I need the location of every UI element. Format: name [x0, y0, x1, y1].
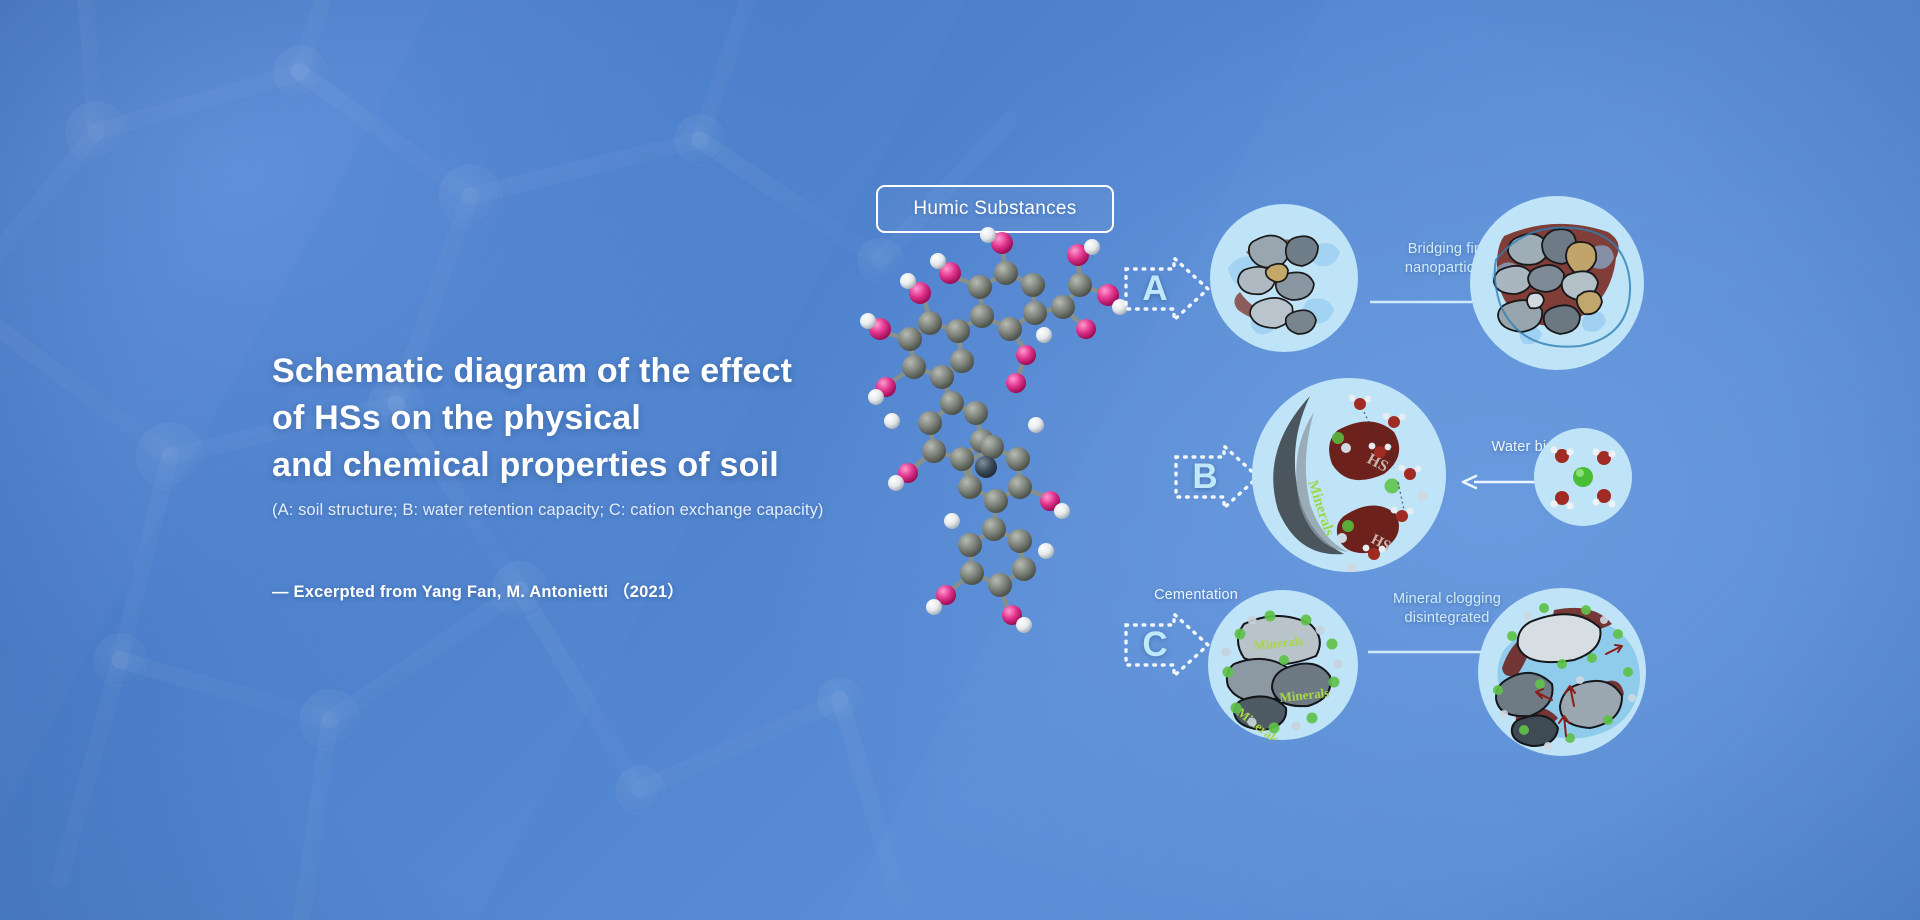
- step-letter-c: C: [1128, 608, 1182, 682]
- page-subtitle: (A: soil structure; B: water retention c…: [272, 497, 912, 523]
- circle-disintegrated-minerals: [1478, 588, 1646, 756]
- circle-hs-mineral-water-retention: HS HS Minerals: [1252, 378, 1446, 572]
- carbon-atoms: [898, 261, 1092, 597]
- text-block: Schematic diagram of the effect of HSs o…: [272, 348, 912, 605]
- circle-aggregated-soil-structure: [1470, 196, 1644, 370]
- humic-substance-molecule-model: [830, 215, 1160, 635]
- step-letter-a-wrap: A: [1122, 252, 1212, 326]
- poster-canvas: Schematic diagram of the effect of HSs o…: [0, 0, 1920, 920]
- circle-hydrated-cation: [1534, 428, 1632, 526]
- nitrogen-atom: [975, 456, 997, 478]
- page-title: Schematic diagram of the effect of HSs o…: [272, 348, 912, 489]
- step-letter-c-wrap: C: [1122, 608, 1212, 682]
- step-letter-b: B: [1178, 440, 1232, 514]
- source-credit: — Excerpted from Yang Fan, M. Antonietti…: [272, 579, 912, 605]
- step-letter-a: A: [1128, 252, 1182, 326]
- circle-cemented-minerals: Minerals Minerals Minerals: [1208, 590, 1358, 740]
- circle-loose-soil-particles: [1210, 204, 1358, 352]
- step-letter-b-wrap: B: [1172, 440, 1262, 514]
